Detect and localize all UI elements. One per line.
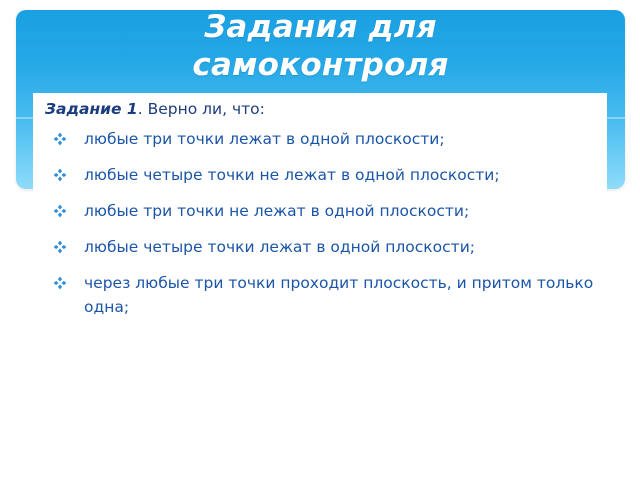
list-item-text: любые три точки лежат в одной плоскости; — [84, 130, 445, 148]
list-item-text: через любые три точки проходит плоскость… — [84, 274, 593, 316]
list-item-text: любые три точки не лежат в одной плоскос… — [84, 202, 469, 220]
slide-canvas: 1,2 0,8 28 2,4 3,1 4,6 15 22 Задания для… — [0, 0, 640, 480]
list-item: любые три точки не лежат в одной плоскос… — [45, 199, 601, 223]
floral-diamond-bullet-icon — [53, 240, 67, 254]
floral-diamond-bullet-icon — [53, 132, 67, 146]
statement-list: любые три точки лежат в одной плоскости; — [45, 127, 601, 319]
floral-diamond-bullet-icon — [53, 204, 67, 218]
list-item: любые четыре точки лежат в одной плоскос… — [45, 235, 601, 259]
floral-diamond-bullet-icon — [53, 168, 67, 182]
list-item: через любые три точки проходит плоскость… — [45, 271, 601, 319]
content-card: Задание 1. Верно ли, что: — [33, 93, 607, 480]
list-item: любые четыре точки не лежат в одной плос… — [45, 163, 601, 187]
list-item-text: любые четыре точки лежат в одной плоскос… — [84, 238, 475, 256]
list-item-text: любые четыре точки не лежат в одной плос… — [84, 166, 500, 184]
task-label: Задание 1 — [45, 100, 138, 118]
task-lead: Задание 1. Верно ли, что: — [45, 99, 601, 120]
floral-diamond-bullet-icon — [53, 276, 67, 290]
list-item: любые три точки лежат в одной плоскости; — [45, 127, 601, 151]
task-question: . Верно ли, что: — [138, 100, 265, 118]
page-title: Задания для самоконтроля — [16, 8, 625, 84]
content-body: Задание 1. Верно ли, что: — [45, 99, 601, 319]
